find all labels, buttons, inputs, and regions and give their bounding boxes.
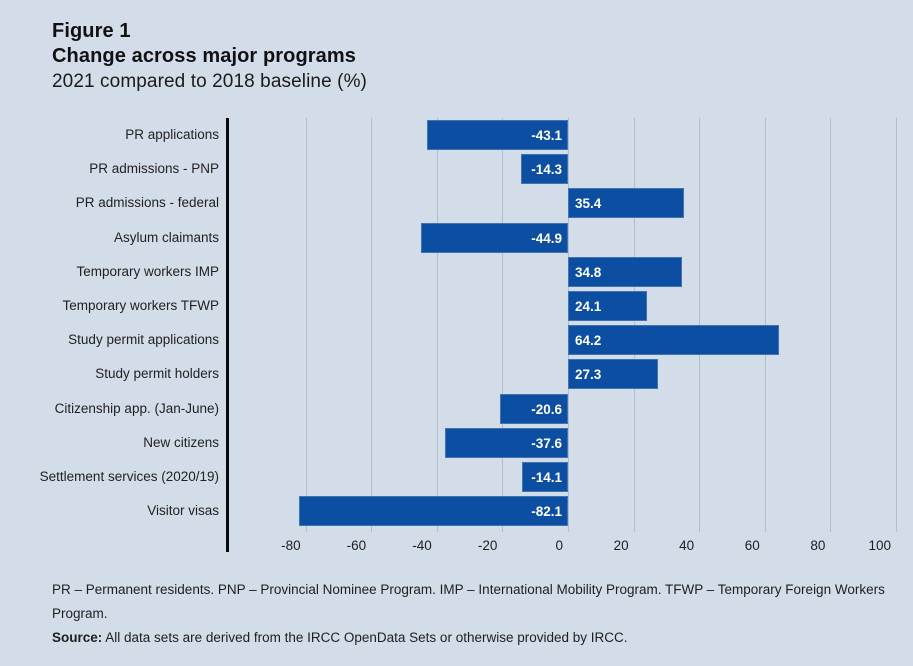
figure-label: Figure 1 <box>52 19 752 44</box>
x-axis-tick-label: -60 <box>347 538 372 553</box>
bar[interactable]: -82.1 <box>299 496 568 526</box>
figure-header: Figure 1 Change across major programs 20… <box>52 19 752 94</box>
bar-value-label: -43.1 <box>531 121 562 151</box>
x-axis-tick-label: 100 <box>868 538 896 553</box>
category-label: Temporary workers IMP <box>0 265 219 279</box>
source-text: All data sets are derived from the IRCC … <box>105 630 627 645</box>
figure-subtitle: 2021 compared to 2018 baseline (%) <box>52 69 752 94</box>
category-label: Asylum claimants <box>0 231 219 245</box>
x-axis-tick-label: -40 <box>412 538 437 553</box>
category-label: PR admissions - PNP <box>0 162 219 176</box>
bar-value-label: -44.9 <box>531 224 562 254</box>
category-label: Study permit applications <box>0 333 219 347</box>
bar-chart: PR applicationsPR admissions - PNPPR adm… <box>0 118 913 558</box>
bar-value-label: 34.8 <box>575 258 601 288</box>
category-label: Study permit holders <box>0 367 219 381</box>
gridline <box>437 118 438 532</box>
bar-value-label: -14.3 <box>531 155 562 185</box>
x-axis-tick-label: -20 <box>478 538 503 553</box>
source-note: Source: All data sets are derived from t… <box>52 626 898 650</box>
category-label: Temporary workers TFWP <box>0 299 219 313</box>
category-label: Settlement services (2020/19) <box>0 470 219 484</box>
category-label: Citizenship app. (Jan-June) <box>0 402 219 416</box>
bar[interactable]: -37.6 <box>445 428 568 458</box>
gridline <box>306 118 307 532</box>
bar[interactable]: -20.6 <box>500 394 568 424</box>
plot-area: -43.1-14.335.4-44.934.824.164.227.3-20.6… <box>226 118 905 532</box>
category-label: PR applications <box>0 128 219 142</box>
bar-value-label: 64.2 <box>575 326 601 356</box>
bar-value-label: -20.6 <box>531 395 562 425</box>
bar-value-label: -37.6 <box>531 429 562 459</box>
bar[interactable]: 35.4 <box>568 188 684 218</box>
footnotes: PR – Permanent residents. PNP – Provinci… <box>52 578 898 650</box>
bar[interactable]: 34.8 <box>568 257 682 287</box>
source-label: Source: <box>52 630 102 645</box>
bar-value-label: -82.1 <box>531 497 562 527</box>
x-axis-tick-label: 0 <box>555 538 568 553</box>
x-axis-tick-label: 80 <box>810 538 830 553</box>
category-label: Visitor visas <box>0 504 219 518</box>
bar[interactable]: 64.2 <box>568 325 779 355</box>
bar[interactable]: -14.3 <box>521 154 568 184</box>
bar-value-label: 27.3 <box>575 360 601 390</box>
gridline <box>830 118 831 532</box>
x-axis-tick-label: 40 <box>679 538 699 553</box>
category-axis-labels: PR applicationsPR admissions - PNPPR adm… <box>0 118 219 532</box>
abbreviations-note: PR – Permanent residents. PNP – Provinci… <box>52 578 898 626</box>
bar[interactable]: 27.3 <box>568 359 658 389</box>
bar-value-label: -14.1 <box>531 463 562 493</box>
bar-value-label: 35.4 <box>575 189 601 219</box>
y-axis-line <box>226 118 229 552</box>
category-label: PR admissions - federal <box>0 196 219 210</box>
x-axis-tick-label: 20 <box>614 538 634 553</box>
x-axis-tick-label: -80 <box>281 538 306 553</box>
category-label: New citizens <box>0 436 219 450</box>
gridline <box>371 118 372 532</box>
bar[interactable]: -14.1 <box>522 462 568 492</box>
bar-value-label: 24.1 <box>575 292 601 322</box>
x-axis-tick-label: 60 <box>745 538 765 553</box>
bar[interactable]: -43.1 <box>427 120 568 150</box>
x-axis-tick-labels: -80-60-40-20020406080100 <box>226 538 905 562</box>
bar[interactable]: 24.1 <box>568 291 647 321</box>
figure-title: Change across major programs <box>52 44 752 69</box>
bar[interactable]: -44.9 <box>421 223 568 253</box>
gridline <box>896 118 897 532</box>
gridline <box>502 118 503 532</box>
